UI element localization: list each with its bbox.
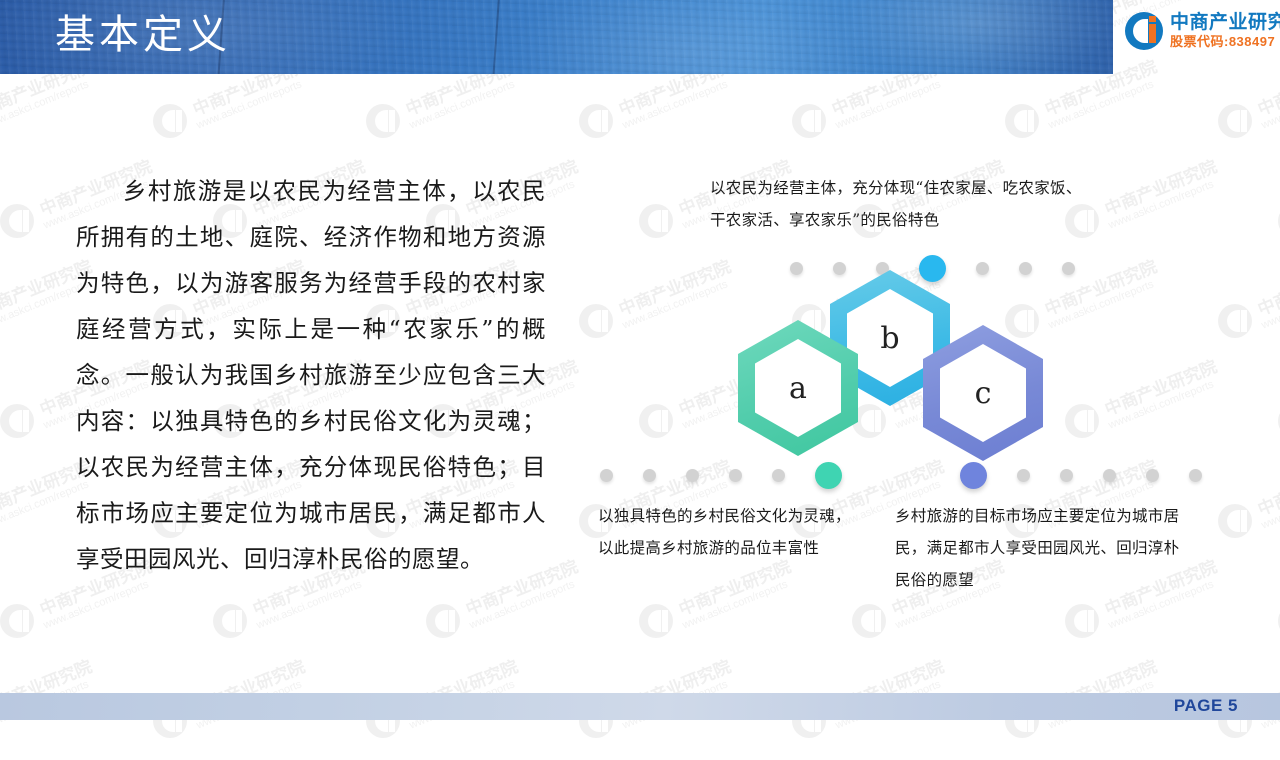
watermark-logo-icon — [1005, 104, 1039, 138]
node-c-caption: 乡村旅游的目标市场应主要定位为城市居民，满足都市人享受田园风光、回归淳朴民俗的愿… — [895, 500, 1187, 596]
dot-row-bottom-right — [960, 462, 1232, 489]
watermark-url: www.askci.com/reports — [255, 578, 364, 631]
watermark-url: www.askci.com/reports — [408, 78, 517, 131]
watermark-url: www.askci.com/reports — [621, 78, 730, 131]
decor-dot — [600, 469, 613, 482]
decor-dot — [1017, 469, 1030, 482]
watermark-text: 中商产业研究院 — [1253, 52, 1280, 120]
watermark-logo-icon — [579, 104, 613, 138]
hexagon-node-c-shape: c — [923, 325, 1043, 461]
node-a-caption: 以独具特色的乡村民俗文化为灵魂，以此提高乡村旅游的品位丰富性 — [598, 500, 860, 564]
decor-dot — [1103, 469, 1116, 482]
decor-dot — [643, 469, 656, 482]
definition-paragraph: 乡村旅游是以农民为经营主体，以农民所拥有的土地、庭院、经济作物和地方资源为特色，… — [76, 168, 546, 582]
watermark-tile: 中商产业研究院www.askci.com/reports — [0, 590, 215, 660]
watermark-logo-icon — [792, 104, 826, 138]
watermark-url: www.askci.com/reports — [1260, 478, 1280, 531]
watermark-logo-icon — [426, 604, 460, 638]
watermark-url: www.askci.com/reports — [1260, 78, 1280, 131]
watermark-url: www.askci.com/reports — [1260, 278, 1280, 331]
decor-dot — [686, 469, 699, 482]
watermark-logo-icon — [366, 104, 400, 138]
watermark-tile: 中商产业研究院www.askci.com/reports — [579, 90, 794, 160]
page-title: 基本定义 — [55, 8, 231, 62]
watermark-url: www.askci.com/reports — [834, 78, 943, 131]
watermark-text: 中商产业研究院 — [1253, 452, 1280, 520]
watermark-tile: 中商产业研究院www.askci.com/reports — [0, 90, 155, 160]
watermark-tile: 中商产业研究院www.askci.com/reports — [1218, 90, 1280, 160]
watermark-logo-icon — [213, 604, 247, 638]
watermark-url: www.askci.com/reports — [468, 578, 577, 631]
page-footer: PAGE 5 — [0, 693, 1280, 720]
watermark-logo-icon — [1218, 104, 1252, 138]
watermark-logo-icon — [1218, 504, 1252, 538]
decor-dot — [1189, 469, 1202, 482]
decor-dot — [1060, 469, 1073, 482]
watermark-logo-icon — [153, 104, 187, 138]
watermark-tile: 中商产业研究院www.askci.com/reports — [1218, 290, 1280, 360]
accent-dot-purple — [960, 462, 987, 489]
page-number: PAGE 5 — [1174, 696, 1238, 716]
logo-company-name: 中商产业研究院 — [1170, 13, 1280, 33]
watermark-tile: 中商产业研究院www.askci.com/reports — [213, 590, 428, 660]
watermark-logo-icon — [0, 204, 34, 238]
node-b-caption: 以农民为经营主体，充分体现“住农家屋、吃农家饭、干农家活、享农家乐”的民俗特色 — [710, 172, 1085, 236]
watermark-tile: 中商产业研究院www.askci.com/reports — [366, 90, 581, 160]
watermark-tile: 中商产业研究院www.askci.com/reports — [792, 90, 1007, 160]
company-circle-logo-icon — [1125, 12, 1163, 50]
watermark-url: www.askci.com/reports — [42, 578, 151, 631]
brand-logo: 中商产业研究院 股票代码:838497 — [1125, 12, 1280, 50]
decor-dot — [1146, 469, 1159, 482]
hexagon-node-a-shape: a — [738, 320, 858, 456]
header-texture-crack — [492, 0, 500, 74]
accent-dot-teal — [815, 462, 842, 489]
decor-dot — [1019, 262, 1032, 275]
watermark-tile: 中商产业研究院www.askci.com/reports — [1005, 90, 1220, 160]
watermark-text: 中商产业研究院 — [1253, 252, 1280, 320]
watermark-logo-icon — [0, 404, 34, 438]
watermark-logo-icon — [0, 604, 34, 638]
page-header: 基本定义 — [0, 0, 1113, 74]
watermark-url: www.askci.com/reports — [1047, 78, 1156, 131]
decor-dot — [790, 262, 803, 275]
watermark-logo-icon — [1218, 304, 1252, 338]
decor-dot — [1062, 262, 1075, 275]
watermark-tile: 中商产业研究院www.askci.com/reports — [153, 90, 368, 160]
watermark-tile: 中商产业研究院www.askci.com/reports — [1218, 490, 1280, 560]
watermark-url: www.askci.com/reports — [0, 78, 91, 131]
watermark-url: www.askci.com/reports — [195, 78, 304, 131]
hexagon-node-b-label: b — [847, 289, 933, 387]
decor-dot — [976, 262, 989, 275]
decor-dot — [772, 469, 785, 482]
logo-stock-code: 股票代码:838497 — [1170, 35, 1280, 49]
decor-dot — [729, 469, 742, 482]
dot-row-bottom-left — [600, 462, 872, 489]
hexagon-node-c[interactable]: c — [923, 325, 1043, 461]
hexagon-node-c-label: c — [940, 344, 1026, 442]
logo-text-block: 中商产业研究院 股票代码:838497 — [1170, 13, 1280, 49]
hexagon-diagram: 以农民为经营主体，充分体现“住农家屋、吃农家饭、干农家活、享农家乐”的民俗特色 … — [590, 160, 1210, 610]
hexagon-node-a[interactable]: a — [738, 320, 858, 456]
hexagon-node-a-label: a — [755, 339, 841, 437]
